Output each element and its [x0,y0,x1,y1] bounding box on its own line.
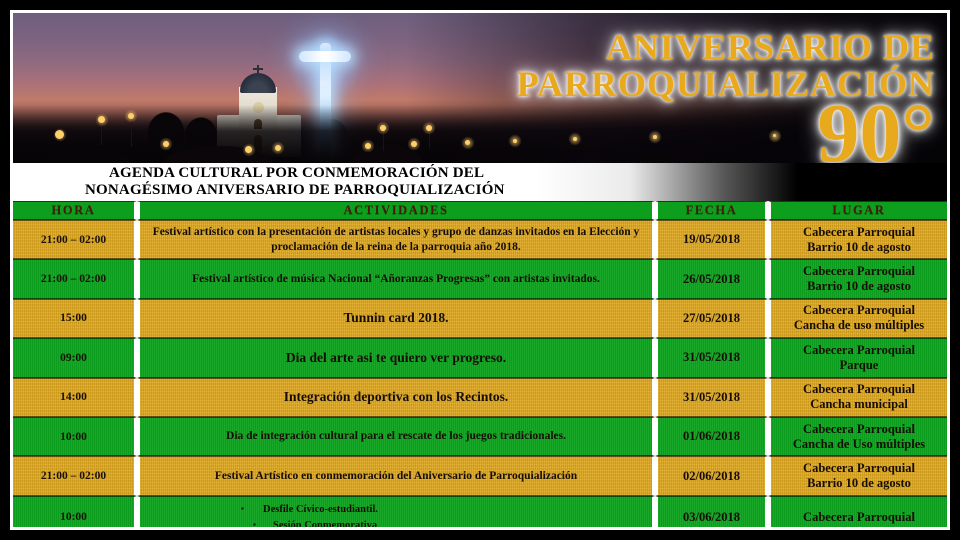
column-header-hora: HORA [13,201,137,220]
cell-hora: 09:00 [13,338,137,377]
lugar-line-2: Cancha de uso múltiples [776,318,942,333]
street-light [411,141,417,147]
subtitle-line-1: AGENDA CULTURAL POR CONMEMORACIÓN DEL [109,165,947,182]
cell-fecha: 31/05/2018 [655,338,768,377]
table-header-row: HORA ACTIVIDADES FECHA LUGAR [13,201,947,220]
cell-lugar: Cabecera Parroquial [768,496,947,530]
activity-bullet-item: Desfile Cívico-estudiantil. [145,502,647,518]
street-light [513,139,517,143]
street-light [275,145,281,151]
hero-photo: ANIVERSARIO DE PARROQUIALIZACIÓN 90° [13,13,947,163]
column-header-actividades: ACTIVIDADES [137,201,655,220]
cell-hora: 14:00 [13,378,137,417]
lugar-line-2: Barrio 10 de agosto [776,476,942,491]
cell-fecha: 03/06/2018 [655,496,768,530]
cell-actividad: Festival artístico con la presentación d… [137,220,655,259]
street-light [163,141,169,147]
column-header-lugar: LUGAR [768,201,947,220]
poster-root: ANIVERSARIO DE PARROQUIALIZACIÓN 90° AGE… [0,0,960,540]
poster-frame: ANIVERSARIO DE PARROQUIALIZACIÓN 90° AGE… [10,10,950,530]
lugar-line-1: Cabecera Parroquial [776,303,942,318]
lugar-line-1: Cabecera Parroquial [776,343,942,358]
cell-actividad: Tunnin card 2018. [137,299,655,338]
cell-actividad: Festival artístico de música Nacional “A… [137,259,655,298]
lugar-line-1: Cabecera Parroquial [776,382,942,397]
cell-hora: 15:00 [13,299,137,338]
cell-lugar: Cabecera ParroquialCancha municipal [768,378,947,417]
cell-fecha: 27/05/2018 [655,299,768,338]
street-light [465,140,470,145]
cell-hora: 10:00 [13,417,137,456]
cell-fecha: 02/06/2018 [655,456,768,495]
street-light [380,125,386,131]
table-row: 10:00Desfile Cívico-estudiantil.Sesión C… [13,496,947,530]
cell-fecha: 26/05/2018 [655,259,768,298]
street-light [55,130,64,139]
street-light [128,113,134,119]
night-side-shading [405,13,947,163]
cell-actividad: Desfile Cívico-estudiantil.Sesión Conmem… [137,496,655,530]
street-light [573,137,577,141]
cell-actividad: Integración deportiva con los Recintos. [137,378,655,417]
cell-hora: 10:00 [13,496,137,530]
cell-lugar: Cabecera ParroquialBarrio 10 de agosto [768,259,947,298]
table-row: 09:00Dia del arte asi te quiero ver prog… [13,338,947,377]
agenda-table-body: 21:00 – 02:00Festival artístico con la p… [13,220,947,530]
cell-actividad: Dia del arte asi te quiero ver progreso. [137,338,655,377]
lugar-line-2: Barrio 10 de agosto [776,240,942,255]
lugar-line-2: Parque [776,358,942,373]
lugar-line-1: Cabecera Parroquial [776,264,942,279]
table-row: 21:00 – 02:00Festival Artístico en conme… [13,456,947,495]
lugar-line-1: Cabecera Parroquial [776,422,942,437]
cell-lugar: Cabecera ParroquialBarrio 10 de agosto [768,220,947,259]
cell-hora: 21:00 – 02:00 [13,220,137,259]
lugar-line-2: Barrio 10 de agosto [776,279,942,294]
cell-lugar: Cabecera ParroquialBarrio 10 de agosto [768,456,947,495]
street-light [426,125,432,131]
lugar-line-2: Cancha de Uso múltiples [776,437,942,452]
lugar-line-1: Cabecera Parroquial [776,510,942,525]
cell-fecha: 01/06/2018 [655,417,768,456]
cell-hora: 21:00 – 02:00 [13,259,137,298]
table-row: 15:00Tunnin card 2018.27/05/2018Cabecera… [13,299,947,338]
street-light [98,116,105,123]
table-row: 14:00Integración deportiva con los Recin… [13,378,947,417]
subtitle-band: AGENDA CULTURAL POR CONMEMORACIÓN DEL NO… [13,163,947,201]
activity-bullet-list: Desfile Cívico-estudiantil.Sesión Conmem… [145,502,647,530]
column-header-fecha: FECHA [655,201,768,220]
cell-actividad: Festival Artístico en conmemoración del … [137,456,655,495]
table-row: 21:00 – 02:00Festival artístico de músic… [13,259,947,298]
cell-lugar: Cabecera ParroquialCancha de Uso múltipl… [768,417,947,456]
table-row: 10:00Dia de integración cultural para el… [13,417,947,456]
activity-bullet-item: Sesión Conmemorativa [145,518,647,530]
table-row: 21:00 – 02:00Festival artístico con la p… [13,220,947,259]
street-light [653,135,657,139]
lugar-line-2: Cancha municipal [776,397,942,412]
street-light [365,143,371,149]
subtitle-line-2: NONAGÉSIMO ANIVERSARIO DE PARROQUIALIZAC… [85,182,947,199]
street-light [245,146,252,153]
cell-lugar: Cabecera ParroquialParque [768,338,947,377]
cell-actividad: Dia de integración cultural para el resc… [137,417,655,456]
cell-fecha: 31/05/2018 [655,378,768,417]
street-light [773,134,776,137]
cell-hora: 21:00 – 02:00 [13,456,137,495]
street-light [863,130,866,133]
cell-fecha: 19/05/2018 [655,220,768,259]
cell-lugar: Cabecera ParroquialCancha de uso múltipl… [768,299,947,338]
lugar-line-1: Cabecera Parroquial [776,225,942,240]
agenda-table: HORA ACTIVIDADES FECHA LUGAR 21:00 – 02:… [13,201,947,530]
lugar-line-1: Cabecera Parroquial [776,461,942,476]
